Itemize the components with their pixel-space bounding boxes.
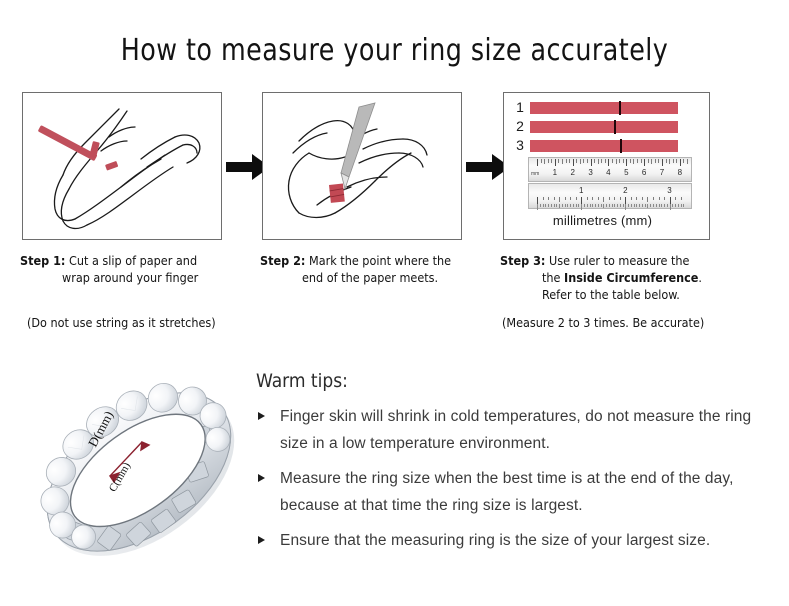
list-item: Finger skin will shrink in cold temperat… bbox=[258, 403, 768, 457]
ruler-caption: millimetres (mm) bbox=[504, 213, 701, 228]
hand-with-paper-strip-illustration bbox=[23, 93, 221, 239]
ruler-metric-number: 3 bbox=[588, 168, 592, 177]
warm-tips-list: Finger skin will shrink in cold temperat… bbox=[258, 403, 768, 562]
ruler-metric-number: 7 bbox=[660, 168, 664, 177]
mark-tick bbox=[614, 120, 616, 134]
step-3-line2-pre: the bbox=[542, 270, 564, 285]
step-1-illustration-panel bbox=[22, 92, 222, 240]
strip-number: 1 bbox=[512, 101, 528, 114]
ruler-metric-number: 4 bbox=[606, 168, 610, 177]
mark-tick bbox=[619, 101, 621, 115]
ruler-imperial-number: 3 bbox=[667, 186, 671, 195]
triangle-bullet-icon bbox=[258, 536, 265, 544]
triangle-bullet-icon bbox=[258, 474, 265, 482]
step-3-note: (Measure 2 to 3 times. Be accurate) bbox=[502, 315, 704, 330]
step-3-line2: the Inside Circumference. bbox=[500, 269, 750, 286]
ruler-unit-tag: mm bbox=[531, 171, 539, 177]
list-item: Ensure that the measuring ring is the si… bbox=[258, 527, 768, 554]
ruler-metric-number: 6 bbox=[642, 168, 646, 177]
hand-marking-paper-with-pencil-illustration bbox=[263, 93, 461, 239]
ruler-imperial-number: 2 bbox=[623, 186, 627, 195]
ruler-metric-number: 2 bbox=[570, 168, 574, 177]
ruler-imperial-band: 123 bbox=[528, 183, 692, 209]
diamond-eternity-ring-photo bbox=[26, 358, 252, 586]
strip-row-1: 1 bbox=[512, 101, 678, 114]
tip-text: Ensure that the measuring ring is the si… bbox=[280, 532, 710, 549]
ruler-metric-number: 1 bbox=[553, 168, 557, 177]
ruler-imperial-numbers: 123 bbox=[529, 186, 691, 197]
step-panels-row: 1 2 3 12345678 mm bbox=[0, 92, 789, 242]
paper-strip bbox=[530, 140, 678, 152]
tip-text: Measure the ring size when the best time… bbox=[280, 470, 733, 514]
tip-text: Finger skin will shrink in cold temperat… bbox=[280, 408, 751, 452]
step-1-note: (Do not use string as it stretches) bbox=[27, 315, 216, 330]
ruler-metric-number: 5 bbox=[624, 168, 628, 177]
ruler-metric-numbers: 12345678 bbox=[529, 168, 691, 179]
mark-tick bbox=[620, 139, 622, 153]
strip-row-2: 2 bbox=[512, 120, 678, 133]
ruler-fine-ticks bbox=[529, 204, 691, 211]
step-1-caption: Step 1: Cut a slip of paper and wrap aro… bbox=[20, 252, 250, 286]
ruler-metric-band: 12345678 mm bbox=[528, 157, 692, 182]
step-3-line3: Refer to the table below. bbox=[500, 286, 750, 303]
step-2-illustration-panel bbox=[262, 92, 462, 240]
step-3-label: Step 3: bbox=[500, 253, 545, 268]
step-3-line1: Use ruler to measure the bbox=[549, 253, 689, 268]
paper-band-on-finger bbox=[329, 184, 345, 203]
step-3-line2-post: . bbox=[698, 270, 702, 285]
step-2-label: Step 2: bbox=[260, 253, 305, 268]
step-1-label: Step 1: bbox=[20, 253, 65, 268]
step-3-line2-emphasis: Inside Circumference bbox=[564, 270, 698, 285]
ruler-metric-number: 8 bbox=[678, 168, 682, 177]
list-item: Measure the ring size when the best time… bbox=[258, 465, 768, 519]
step-3-illustration-panel: 1 2 3 12345678 mm bbox=[503, 92, 710, 240]
step-2-line1: Mark the point where the bbox=[309, 253, 451, 268]
page-title: How to measure your ring size accurately bbox=[24, 33, 766, 68]
strip-number: 2 bbox=[512, 120, 528, 133]
step-1-line2: wrap around your finger bbox=[20, 269, 250, 286]
step-3-caption: Step 3: Use ruler to measure the the Ins… bbox=[500, 252, 750, 303]
warm-tips-heading: Warm tips: bbox=[256, 370, 348, 392]
step-2-line2: end of the paper meets. bbox=[260, 269, 490, 286]
ruler-minor-ticks bbox=[529, 159, 691, 166]
ruler-minor-ticks bbox=[529, 197, 691, 204]
ruler-imperial-number: 1 bbox=[579, 186, 583, 195]
paper-strip bbox=[530, 102, 678, 114]
strip-row-3: 3 bbox=[512, 139, 678, 152]
step-1-line1: Cut a slip of paper and bbox=[69, 253, 197, 268]
step-2-caption: Step 2: Mark the point where the end of … bbox=[260, 252, 490, 286]
paper-strip bbox=[530, 121, 678, 133]
strip-number: 3 bbox=[512, 139, 528, 152]
ruler-graphic: 12345678 mm 123 bbox=[528, 157, 692, 209]
triangle-bullet-icon bbox=[258, 412, 265, 420]
